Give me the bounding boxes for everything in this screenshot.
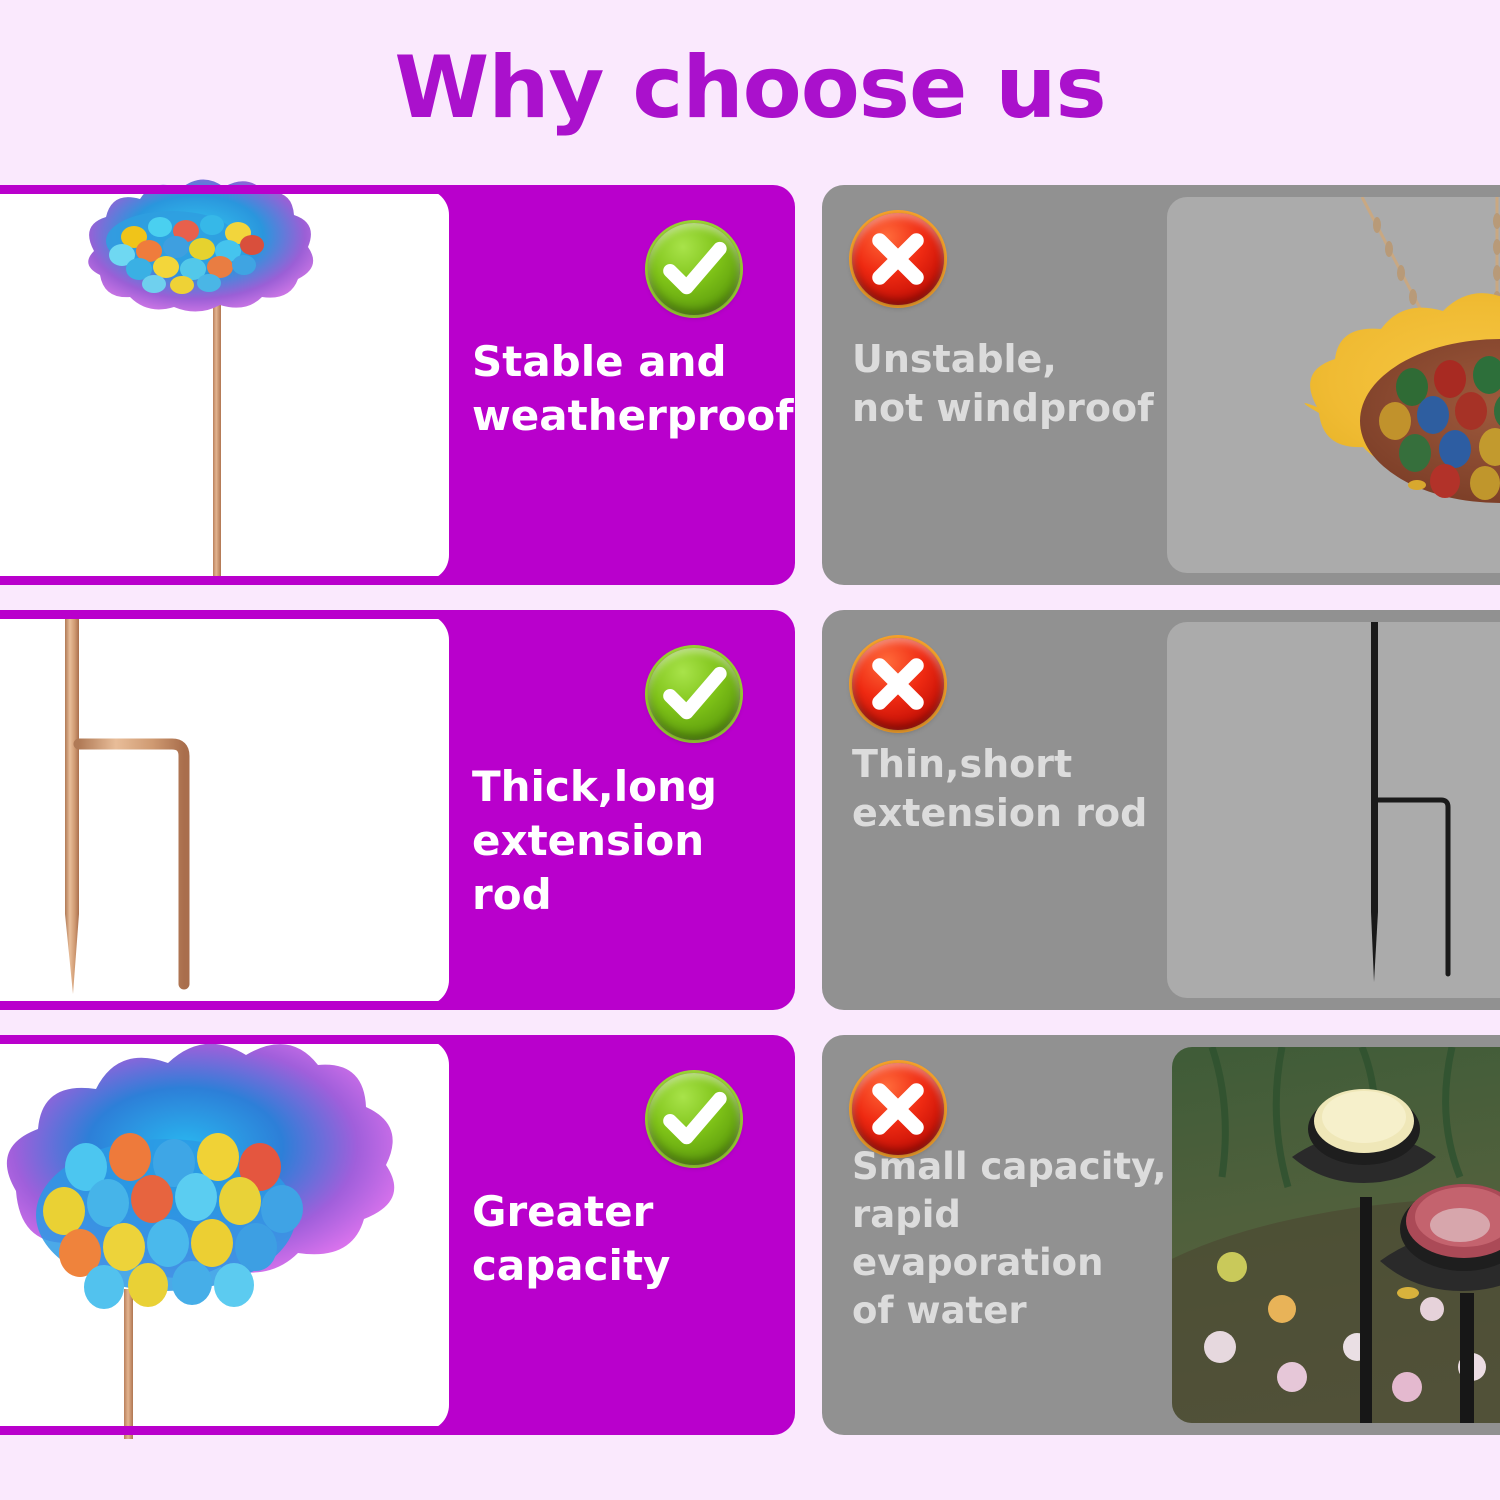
divider-line [0, 1426, 446, 1435]
pro-label: Stable and weatherproof [472, 335, 782, 443]
garden-stakes-photo-illustration [1172, 1047, 1500, 1423]
con-label: Thin,short extension rod [852, 740, 1172, 839]
divider-line [0, 1035, 446, 1044]
check-icon [648, 223, 740, 315]
comparison-rows: Stable and weatherproof [0, 175, 1500, 1455]
divider-line [0, 610, 446, 619]
pro-label-line1: Greater [472, 1185, 782, 1239]
comparison-row: Thick,long extension rod [0, 600, 1500, 1025]
divider-line [0, 576, 446, 585]
con-label-line1: Unstable, [852, 335, 1172, 384]
divider-line [0, 1001, 446, 1010]
pro-label-line2: weatherproof [472, 389, 782, 443]
check-icon [648, 648, 740, 740]
con-label-line2: extension rod [852, 789, 1172, 838]
page-title: Why choose us [394, 45, 1105, 131]
x-icon [852, 1063, 944, 1155]
comparison-row: Greater capacity [0, 1025, 1500, 1455]
pro-label-line1: Thick,long [472, 760, 782, 814]
con-product-image [1167, 622, 1500, 998]
pro-side: Greater capacity [0, 1035, 795, 1435]
con-label-line2: rapid [852, 1191, 1172, 1239]
con-label-line4: of water [852, 1287, 1172, 1335]
page-header: Why choose us [0, 0, 1500, 175]
pro-label: Greater capacity [472, 1185, 782, 1293]
x-icon [852, 213, 944, 305]
pro-product-image [0, 189, 449, 581]
pro-label-line1: Stable and [472, 335, 782, 389]
pro-product-image [0, 1039, 449, 1431]
con-label: Small capacity, rapid evaporation of wat… [852, 1143, 1172, 1335]
pro-product-image [0, 614, 449, 1006]
con-label-line3: evaporation [852, 1239, 1172, 1287]
check-icon [648, 1073, 740, 1165]
large-marble-bowl-illustration [0, 1039, 449, 1431]
thin-black-rod-illustration [1167, 622, 1500, 998]
divider-line [0, 185, 446, 194]
con-card: Small capacity, rapid evaporation of wat… [822, 1035, 1500, 1435]
con-card: Thin,short extension rod [822, 610, 1500, 1010]
x-icon [852, 638, 944, 730]
bird-bath-stake-illustration [0, 189, 449, 581]
pro-side: Thick,long extension rod [0, 610, 795, 1010]
con-label-line1: Thin,short [852, 740, 1172, 789]
pro-label: Thick,long extension rod [472, 760, 782, 921]
con-product-image [1167, 197, 1500, 573]
hanging-feeder-illustration [1167, 197, 1500, 573]
con-label-line2: not windproof [852, 384, 1172, 433]
con-product-image [1172, 1047, 1500, 1423]
pro-label-line2: extension rod [472, 814, 782, 922]
pro-label-line2: capacity [472, 1239, 782, 1293]
con-label: Unstable, not windproof [852, 335, 1172, 434]
con-card: Unstable, not windproof [822, 185, 1500, 585]
pro-side: Stable and weatherproof [0, 185, 795, 585]
thick-copper-rod-illustration [0, 614, 449, 1006]
comparison-row: Stable and weatherproof [0, 175, 1500, 600]
